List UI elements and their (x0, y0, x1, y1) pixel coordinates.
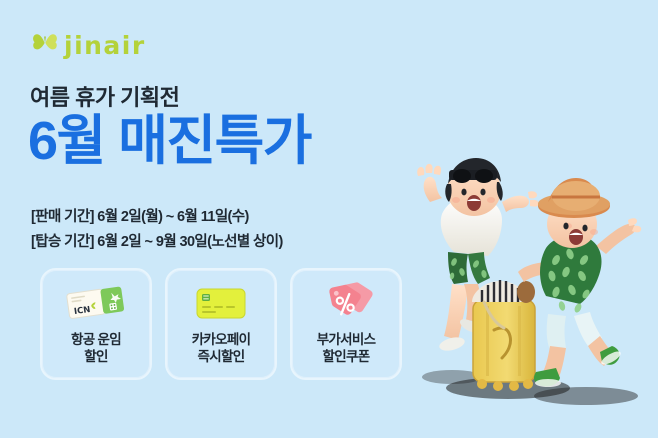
benefit-card-label: 카카오페이 즉시할인 (192, 332, 251, 366)
period-list: [판매 기간] 6월 2일(월) ~ 6월 11일(수) [탑승 기간] 6월 … (31, 205, 283, 251)
brand-logo: jinair (32, 32, 146, 59)
sale-period-value: 6월 2일(월) ~ 6월 11일(수) (97, 209, 248, 225)
benefit-card-airfare[interactable]: ICN 항공 운임 할인 (40, 268, 152, 380)
traveler-right (518, 178, 641, 387)
benefit-card-coupon[interactable]: 부가서비스 할인쿠폰 (290, 268, 402, 380)
yellow-suitcase (472, 280, 535, 391)
promo-poster: jinair 여름 휴가 기획전 6월 매진특가 [판매 기간] 6월 2일(월… (0, 0, 658, 438)
sale-period: [판매 기간] 6월 2일(월) ~ 6월 11일(수) (31, 205, 283, 226)
benefit-card-list: ICN 항공 운임 할인 (40, 268, 402, 380)
butterfly-icon (32, 32, 58, 59)
boarding-pass-icon: ICN (65, 281, 127, 325)
page-title: 6월 매진특가 (28, 113, 311, 170)
benefit-card-label: 항공 운임 할인 (71, 332, 121, 366)
travel-period-label: [탑승 기간] (31, 234, 94, 250)
brand-wordmark: jinair (64, 33, 146, 58)
travel-period-value: 6월 2일 ~ 9월 30일(노선별 상이) (97, 234, 282, 250)
travel-period: [탑승 기간] 6월 2일 ~ 9월 30일(노선별 상이) (31, 230, 283, 251)
credit-card-icon (192, 281, 250, 325)
sale-period-label: [판매 기간] (31, 209, 94, 225)
benefit-card-label: 부가서비스 할인쿠폰 (317, 332, 376, 366)
campaign-eyebrow: 여름 휴가 기획전 (30, 80, 179, 112)
two-travelers-with-suitcase-illustration (390, 140, 658, 438)
price-tag-percent-icon (318, 281, 374, 325)
benefit-card-kakaopay[interactable]: 카카오페이 즉시할인 (165, 268, 277, 380)
